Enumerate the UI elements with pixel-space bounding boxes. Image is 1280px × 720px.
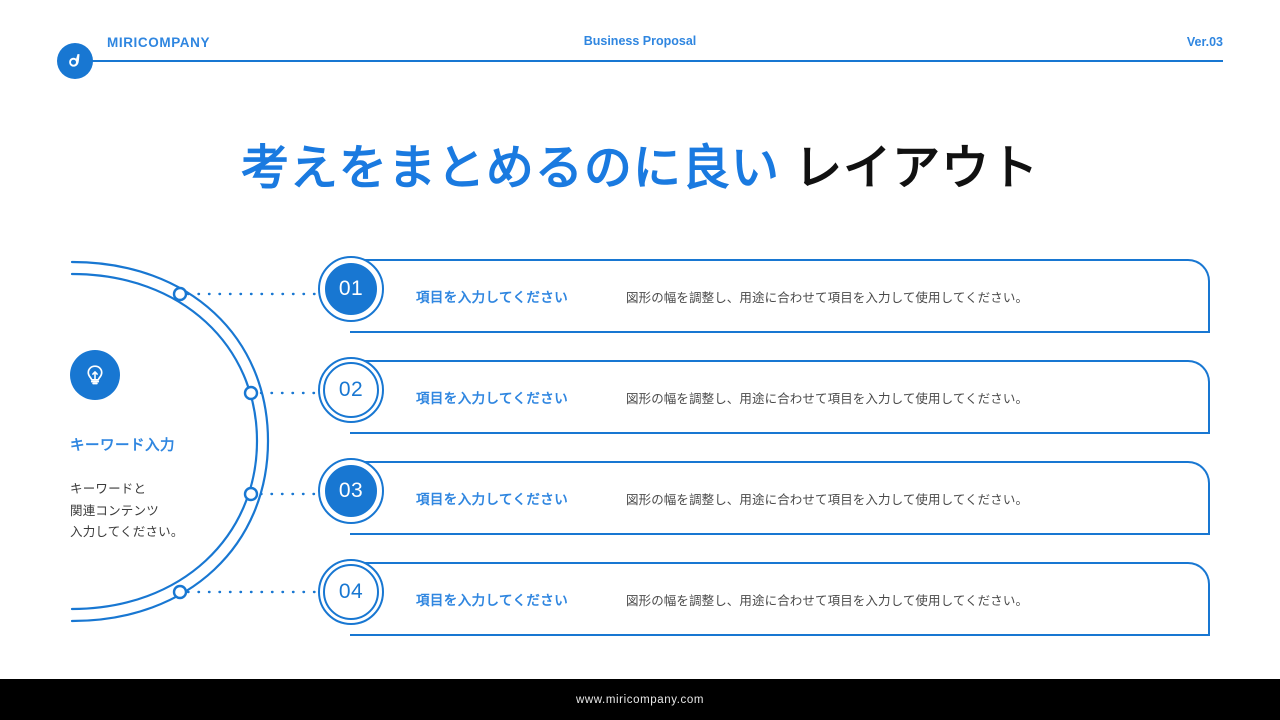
lightbulb-icon [70, 350, 120, 400]
keyword-panel-body: キーワードと 関連コンテンツ 入力してください。 [70, 479, 260, 544]
item-heading: 項目を入力してください [416, 286, 568, 306]
list-item[interactable]: 項目を入力してください 図形の幅を調整し、用途に合わせて項目を入力して使用してく… [318, 360, 1210, 434]
item-description: 図形の幅を調整し、用途に合わせて項目を入力して使用してください。 [626, 590, 1028, 609]
keyword-panel-heading: キーワード入力 [70, 434, 260, 455]
slide-footer: www.miricompany.com [0, 679, 1280, 720]
item-list: 項目を入力してください 図形の幅を調整し、用途に合わせて項目を入力して使用してく… [318, 259, 1210, 636]
keyword-panel-body-line: キーワードと [70, 479, 260, 501]
item-number-badge[interactable]: 01 [318, 255, 384, 327]
item-number-value: 03 [323, 463, 379, 519]
page-title: 考えをまとめるのに良い レイアウト [0, 128, 1280, 198]
item-number-badge[interactable]: 04 [318, 558, 384, 630]
item-number-value: 02 [323, 362, 379, 418]
item-number-badge[interactable]: 03 [318, 457, 384, 529]
list-item[interactable]: 項目を入力してください 図形の幅を調整し、用途に合わせて項目を入力して使用してく… [318, 461, 1210, 535]
page-title-rest: レイアウト [780, 142, 1039, 195]
item-description: 図形の幅を調整し、用途に合わせて項目を入力して使用してください。 [626, 489, 1028, 508]
footer-url[interactable]: www.miricompany.com [576, 694, 704, 706]
header-divider [75, 60, 1223, 62]
item-number-value: 04 [323, 564, 379, 620]
page-title-accent: 考えをまとめるのに良い [241, 142, 780, 195]
item-description: 図形の幅を調整し、用途に合わせて項目を入力して使用してください。 [626, 287, 1028, 306]
header-version-label: Ver.03 [1187, 35, 1223, 49]
miri-logo-icon[interactable] [57, 43, 93, 79]
item-heading: 項目を入力してください [416, 387, 568, 407]
keyword-panel: キーワード入力 キーワードと 関連コンテンツ 入力してください。 [70, 350, 260, 544]
item-number-badge[interactable]: 02 [318, 356, 384, 428]
list-item[interactable]: 項目を入力してください 図形の幅を調整し、用途に合わせて項目を入力して使用してく… [318, 562, 1210, 636]
keyword-panel-body-line: 関連コンテンツ [70, 501, 260, 523]
item-description: 図形の幅を調整し、用途に合わせて項目を入力して使用してください。 [626, 388, 1028, 407]
item-heading: 項目を入力してください [416, 488, 568, 508]
connector-node-4 [174, 586, 186, 598]
keyword-panel-body-line: 入力してください。 [70, 522, 260, 544]
item-heading: 項目を入力してください [416, 589, 568, 609]
slide-header: MIRICOMPANY Business Proposal Ver.03 [0, 0, 1280, 100]
connector-node-1 [174, 288, 186, 300]
list-item[interactable]: 項目を入力してください 図形の幅を調整し、用途に合わせて項目を入力して使用してく… [318, 259, 1210, 333]
item-number-value: 01 [323, 261, 379, 317]
header-center-title: Business Proposal [0, 34, 1280, 48]
